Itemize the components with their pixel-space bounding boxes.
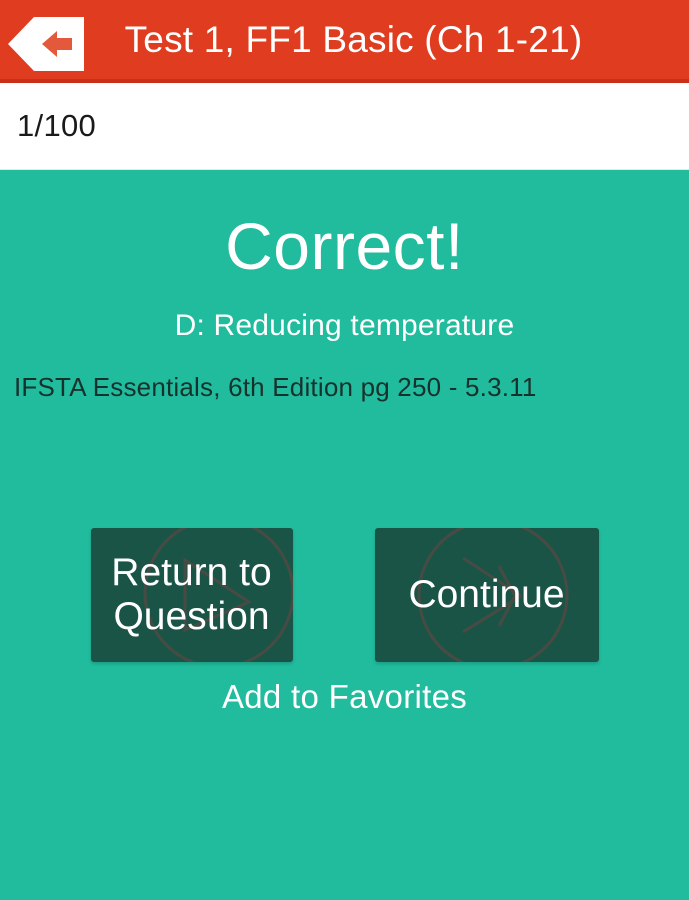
action-button-row: Return toQuestion Continue <box>0 528 689 662</box>
back-button[interactable] <box>8 17 86 71</box>
back-arrow-icon <box>8 17 86 71</box>
verdict-text: Correct! <box>225 212 464 281</box>
citation-reference: IFSTA Essentials, 6th Edition pg 250 - 5… <box>14 372 537 403</box>
app-header: Test 1, FF1 Basic (Ch 1-21) <box>0 0 689 83</box>
add-to-favorites-button[interactable]: Add to Favorites <box>0 678 689 716</box>
page-title: Test 1, FF1 Basic (Ch 1-21) <box>0 0 689 81</box>
return-to-question-label: Return toQuestion <box>111 551 271 638</box>
quiz-result-screen: Test 1, FF1 Basic (Ch 1-21) 1/100 Correc… <box>0 0 689 900</box>
question-counter: 1/100 <box>17 108 96 144</box>
return-to-question-button[interactable]: Return toQuestion <box>91 528 293 662</box>
progress-strip: 1/100 <box>0 83 689 170</box>
correct-answer-text: D: Reducing temperature <box>175 309 515 343</box>
result-panel: Correct! D: Reducing temperature IFSTA E… <box>0 170 689 900</box>
continue-button[interactable]: Continue <box>375 528 599 662</box>
continue-label: Continue <box>408 573 564 617</box>
